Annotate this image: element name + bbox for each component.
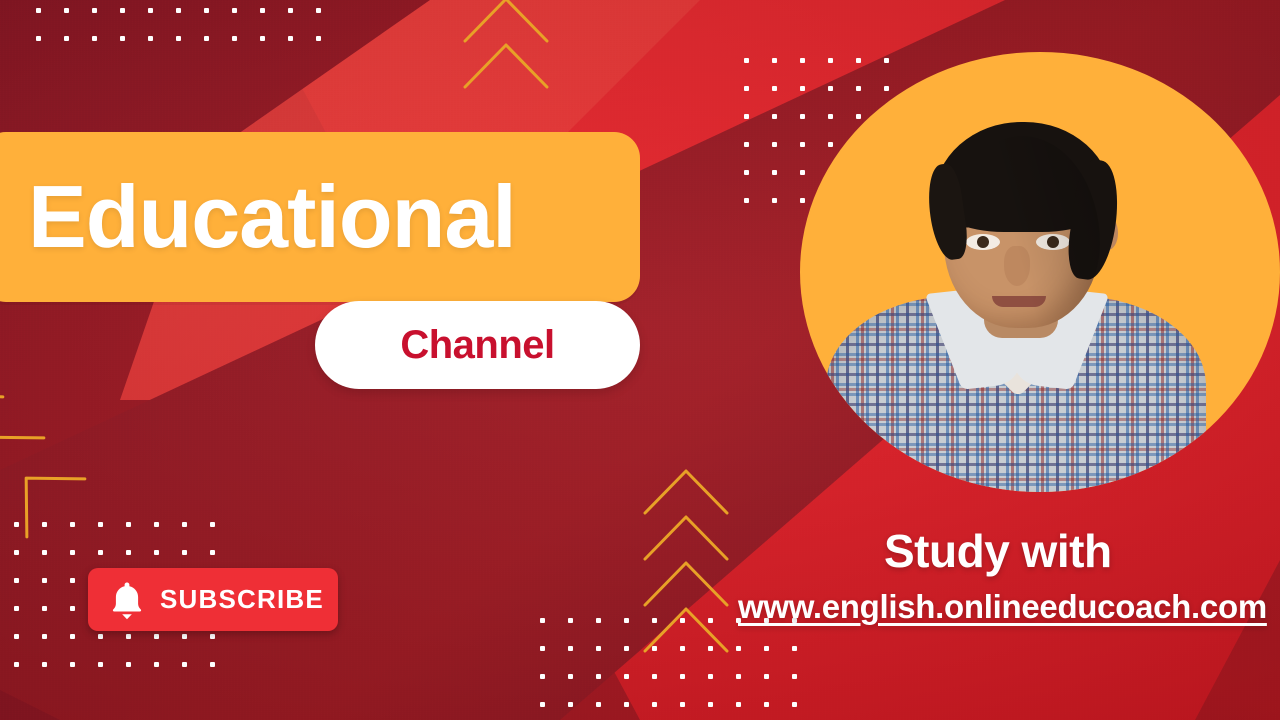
dot [568,618,573,623]
study-with-headline: Study with [884,524,1112,578]
dot [70,662,75,667]
subscribe-button[interactable]: SUBSCRIBE [88,568,338,631]
dot [708,674,713,679]
dot [772,142,777,147]
website-url[interactable]: www.english.onlineeducoach.com [738,588,1267,626]
dot [744,198,749,203]
dot [210,522,215,527]
chevron-up-icon [640,512,732,564]
dot [772,58,777,63]
thumbnail-canvas: Educational Channel SUBSCRIBE Study with… [0,0,1280,720]
dot [800,198,805,203]
dot [182,634,187,639]
dot [210,634,215,639]
dot [42,550,47,555]
dot [596,646,601,651]
dot [828,86,833,91]
dot [92,8,97,13]
dot [70,634,75,639]
dot [120,8,125,13]
subscribe-label: SUBSCRIBE [160,584,324,615]
dot [42,606,47,611]
dot [14,550,19,555]
dot [182,662,187,667]
dot [652,674,657,679]
dot [232,36,237,41]
dot [792,646,797,651]
dot [540,674,545,679]
dot [736,702,741,707]
dot [232,8,237,13]
dot [14,578,19,583]
dot [652,702,657,707]
chevron-up-icon [640,466,732,518]
subtitle-card: Channel [315,301,640,389]
dot [316,8,321,13]
dot [568,646,573,651]
dot [540,618,545,623]
dot [42,578,47,583]
avatar [800,52,1280,492]
dot [126,634,131,639]
dot [210,550,215,555]
dot [540,702,545,707]
dot [744,114,749,119]
dots-top-left [36,8,344,64]
dot [98,550,103,555]
dot [14,662,19,667]
dot [210,662,215,667]
dot [800,58,805,63]
dot [260,8,265,13]
dot [792,702,797,707]
dot [42,634,47,639]
dot [744,58,749,63]
chevrons-bottom-mid [640,466,732,656]
dot [736,674,741,679]
dot [624,618,629,623]
dot [568,674,573,679]
dot [182,522,187,527]
dot [568,702,573,707]
dot [126,550,131,555]
chevron-up-icon [460,40,552,92]
dot [70,522,75,527]
dot [260,36,265,41]
dot [204,36,209,41]
dot [800,114,805,119]
dot [680,674,685,679]
dot [708,702,713,707]
dot [856,58,861,63]
dot [596,618,601,623]
chevrons-top [460,0,552,92]
dot [884,86,889,91]
title-card: Educational [0,132,640,302]
dot [126,662,131,667]
dot [64,8,69,13]
dot [764,674,769,679]
bell-icon [110,580,144,620]
dot [884,58,889,63]
dot [772,170,777,175]
dot [764,702,769,707]
dot [70,606,75,611]
dot [540,646,545,651]
dot [596,702,601,707]
dot [36,36,41,41]
chevron-up-icon [640,558,732,610]
dot [204,8,209,13]
dot [154,662,159,667]
dot [624,674,629,679]
dot [148,8,153,13]
dot [70,578,75,583]
dot [98,522,103,527]
dot [828,58,833,63]
dot [154,522,159,527]
dot [154,634,159,639]
dot [42,662,47,667]
dot [36,8,41,13]
dot [744,170,749,175]
dot [176,8,181,13]
dot [764,646,769,651]
dot [92,36,97,41]
dot [288,36,293,41]
instructor-photo [826,100,1206,492]
dot [744,86,749,91]
page-title: Educational [28,173,516,261]
dot [800,142,805,147]
dot [14,606,19,611]
dot [792,674,797,679]
dot [800,86,805,91]
dot [596,674,601,679]
dot [182,550,187,555]
dot [856,86,861,91]
dot [772,114,777,119]
dot [744,142,749,147]
dot [800,170,805,175]
chevron-up-icon [640,604,732,656]
dot [98,662,103,667]
dot [14,634,19,639]
dot [176,36,181,41]
dot [148,36,153,41]
dot [120,36,125,41]
dot [772,86,777,91]
dot [736,646,741,651]
dot [624,702,629,707]
dot [680,702,685,707]
dot [98,634,103,639]
dot [316,36,321,41]
dot [624,646,629,651]
dot [288,8,293,13]
dot [70,550,75,555]
dot [126,522,131,527]
dot [64,36,69,41]
subtitle-label: Channel [400,323,554,368]
dot [772,198,777,203]
dot [154,550,159,555]
